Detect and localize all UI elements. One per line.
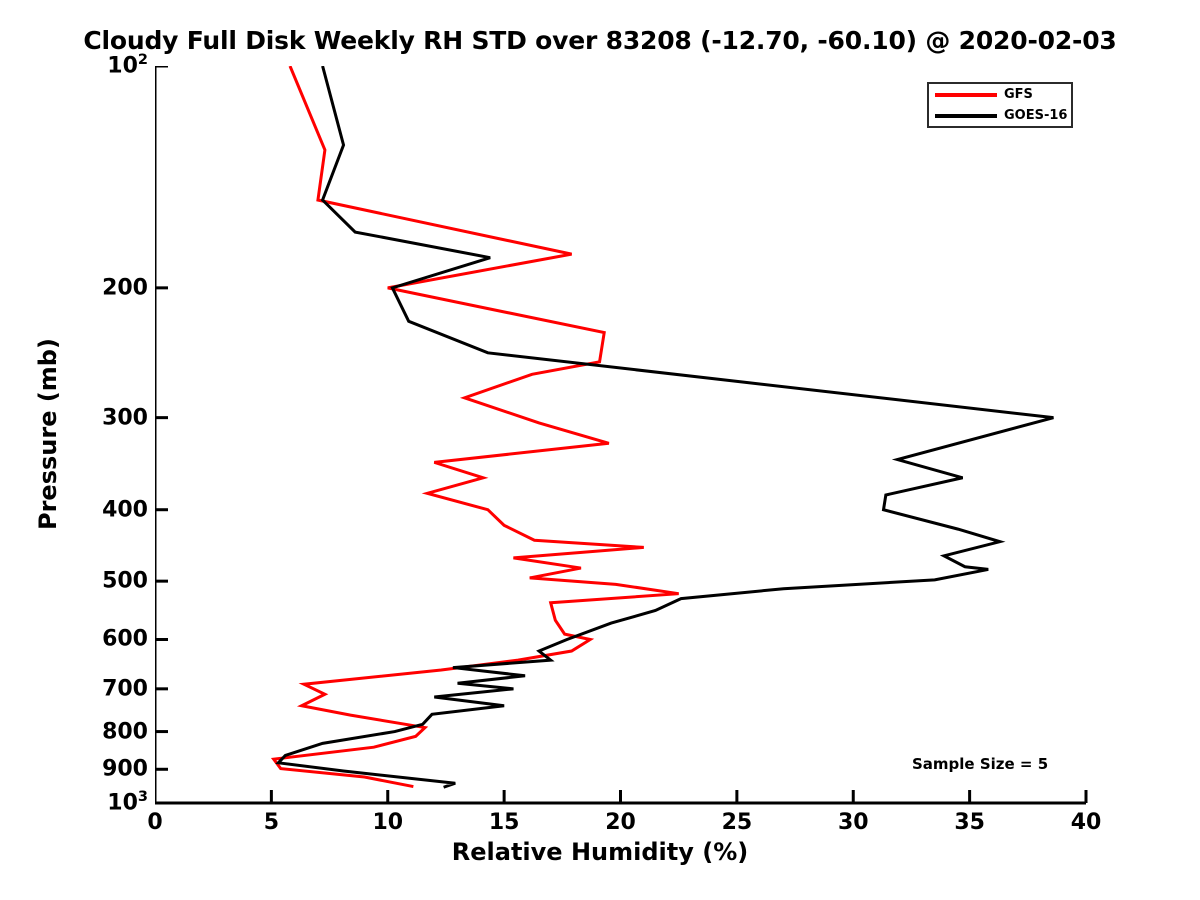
legend-swatch-gfs [935,93,997,97]
y-axis-label: Pressure (mb) [34,338,62,530]
legend[interactable]: GFS GOES-16 [927,82,1073,128]
sample-size-annotation: Sample Size = 5 [912,755,1048,773]
x-tick-label-40: 40 [1071,810,1102,835]
y-tick-label-100: 102 [48,54,148,79]
y-tick-label-300: 300 [48,405,148,430]
x-tick-label-0: 0 [147,810,162,835]
x-axis-label: Relative Humidity (%) [0,838,1200,866]
y-tick-label-1000: 103 [48,791,148,816]
legend-label-goes16: GOES-16 [1004,108,1067,123]
y-tick-label-500: 500 [48,569,148,594]
axis-lines-group [155,66,1086,803]
x-tick-label-30: 30 [838,810,869,835]
legend-entry-goes16: GOES-16 [929,105,1071,126]
x-tick-label-35: 35 [954,810,985,835]
y-tick-label-200: 200 [48,275,148,300]
y-tick-label-400: 400 [48,497,148,522]
y-tick-label-700: 700 [48,676,148,701]
series-line-gfs [274,66,679,787]
y-tick-label-800: 800 [48,719,148,744]
x-tick-label-15: 15 [489,810,520,835]
legend-label-gfs: GFS [1004,87,1033,102]
y-tick-label-900: 900 [48,757,148,782]
page-title: Cloudy Full Disk Weekly RH STD over 8320… [0,26,1200,55]
x-tick-label-25: 25 [722,810,753,835]
data-series-group [274,66,1054,787]
plot-area [155,66,1086,803]
series-line-goes-16 [278,66,1053,787]
plot-figure: Cloudy Full Disk Weekly RH STD over 8320… [0,0,1200,900]
legend-entry-gfs: GFS [929,84,1071,105]
y-tick-label-600: 600 [48,627,148,652]
legend-swatch-goes16 [935,114,997,118]
x-tick-label-20: 20 [605,810,636,835]
x-tick-label-5: 5 [264,810,279,835]
x-tick-label-10: 10 [372,810,403,835]
axis-ticks-group [155,66,1086,803]
